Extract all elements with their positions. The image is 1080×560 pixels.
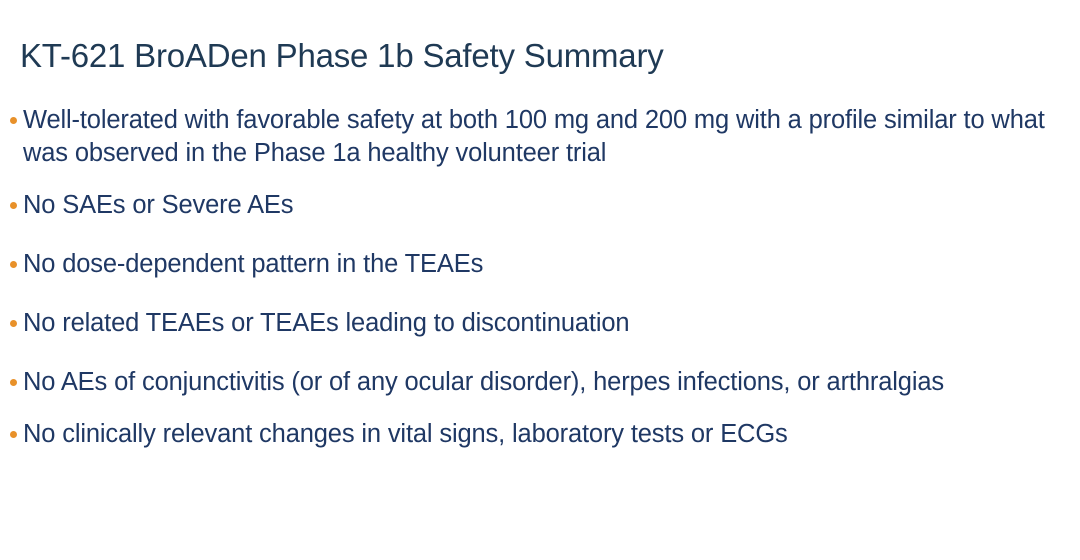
- list-item: No dose-dependent pattern in the TEAEs: [10, 248, 1060, 281]
- list-item-text: No dose-dependent pattern in the TEAEs: [23, 248, 1060, 281]
- bullet-dot-icon: [10, 117, 17, 124]
- bullet-dot-icon: [10, 320, 17, 327]
- slide: KT-621 BroADen Phase 1b Safety Summary W…: [0, 0, 1080, 560]
- bullet-dot-icon: [10, 261, 17, 268]
- list-item: No clinically relevant changes in vital …: [10, 418, 1060, 451]
- list-item: No AEs of conjunctivitis (or of any ocul…: [10, 366, 1060, 399]
- list-item-text: No related TEAEs or TEAEs leading to dis…: [23, 307, 1060, 340]
- list-item-text: No clinically relevant changes in vital …: [23, 418, 1060, 451]
- list-item: No related TEAEs or TEAEs leading to dis…: [10, 307, 1060, 340]
- list-item-text: No AEs of conjunctivitis (or of any ocul…: [23, 366, 973, 399]
- list-item: Well-tolerated with favorable safety at …: [10, 104, 1060, 170]
- page-title: KT-621 BroADen Phase 1b Safety Summary: [20, 36, 1060, 76]
- list-item-text: Well-tolerated with favorable safety at …: [23, 104, 1055, 170]
- bullet-dot-icon: [10, 379, 17, 386]
- bullet-dot-icon: [10, 202, 17, 209]
- bullet-dot-icon: [10, 431, 17, 438]
- list-item-text: No SAEs or Severe AEs: [23, 189, 1060, 222]
- list-item: No SAEs or Severe AEs: [10, 189, 1060, 222]
- bullet-list: Well-tolerated with favorable safety at …: [10, 104, 1060, 451]
